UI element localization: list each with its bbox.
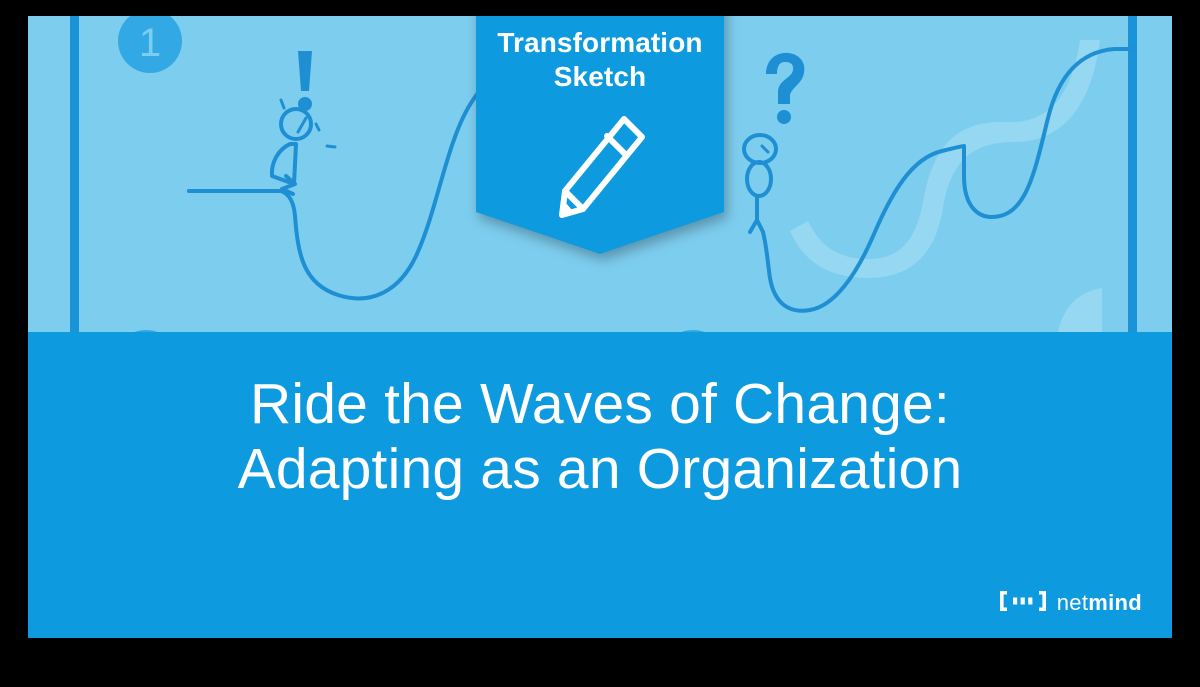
transformation-sketch-banner: Transformation Sketch <box>476 16 724 254</box>
title-band: Ride the Waves of Change: Adapting as an… <box>28 332 1172 638</box>
netmind-wordmark: netmind <box>1057 590 1142 616</box>
stick-figure-right <box>744 53 804 232</box>
figure-head <box>744 135 776 163</box>
netmind-brackets-icon <box>999 590 1047 617</box>
stick-figure-left <box>272 51 335 194</box>
svg-text:1: 1 <box>139 21 161 65</box>
wave-crest-shape-corner <box>1058 288 1102 332</box>
slide-canvas: 1 2 3 <box>28 16 1172 638</box>
question-mark-icon <box>766 53 804 124</box>
pencil-icon <box>476 16 724 254</box>
vertical-stripe-left <box>70 16 79 332</box>
title-line-1: Ride the Waves of Change: <box>28 372 1172 437</box>
logo-word-mind: mind <box>1088 590 1142 615</box>
exclamation-mark-icon <box>298 51 312 111</box>
netmind-logo: netmind <box>999 590 1142 616</box>
screenshot-stage: 1 2 3 <box>0 0 1200 687</box>
figure-body <box>747 162 771 196</box>
title-line-2: Adapting as an Organization <box>28 437 1172 502</box>
figure-body <box>272 144 296 184</box>
vertical-stripe-right <box>1128 16 1137 332</box>
page-title: Ride the Waves of Change: Adapting as an… <box>28 372 1172 502</box>
figure-head <box>281 109 311 139</box>
logo-word-net: net <box>1057 590 1088 615</box>
step-marker-1: 1 <box>118 16 182 73</box>
figure-legs <box>750 196 763 232</box>
wave-crest-shape <box>790 40 1100 278</box>
